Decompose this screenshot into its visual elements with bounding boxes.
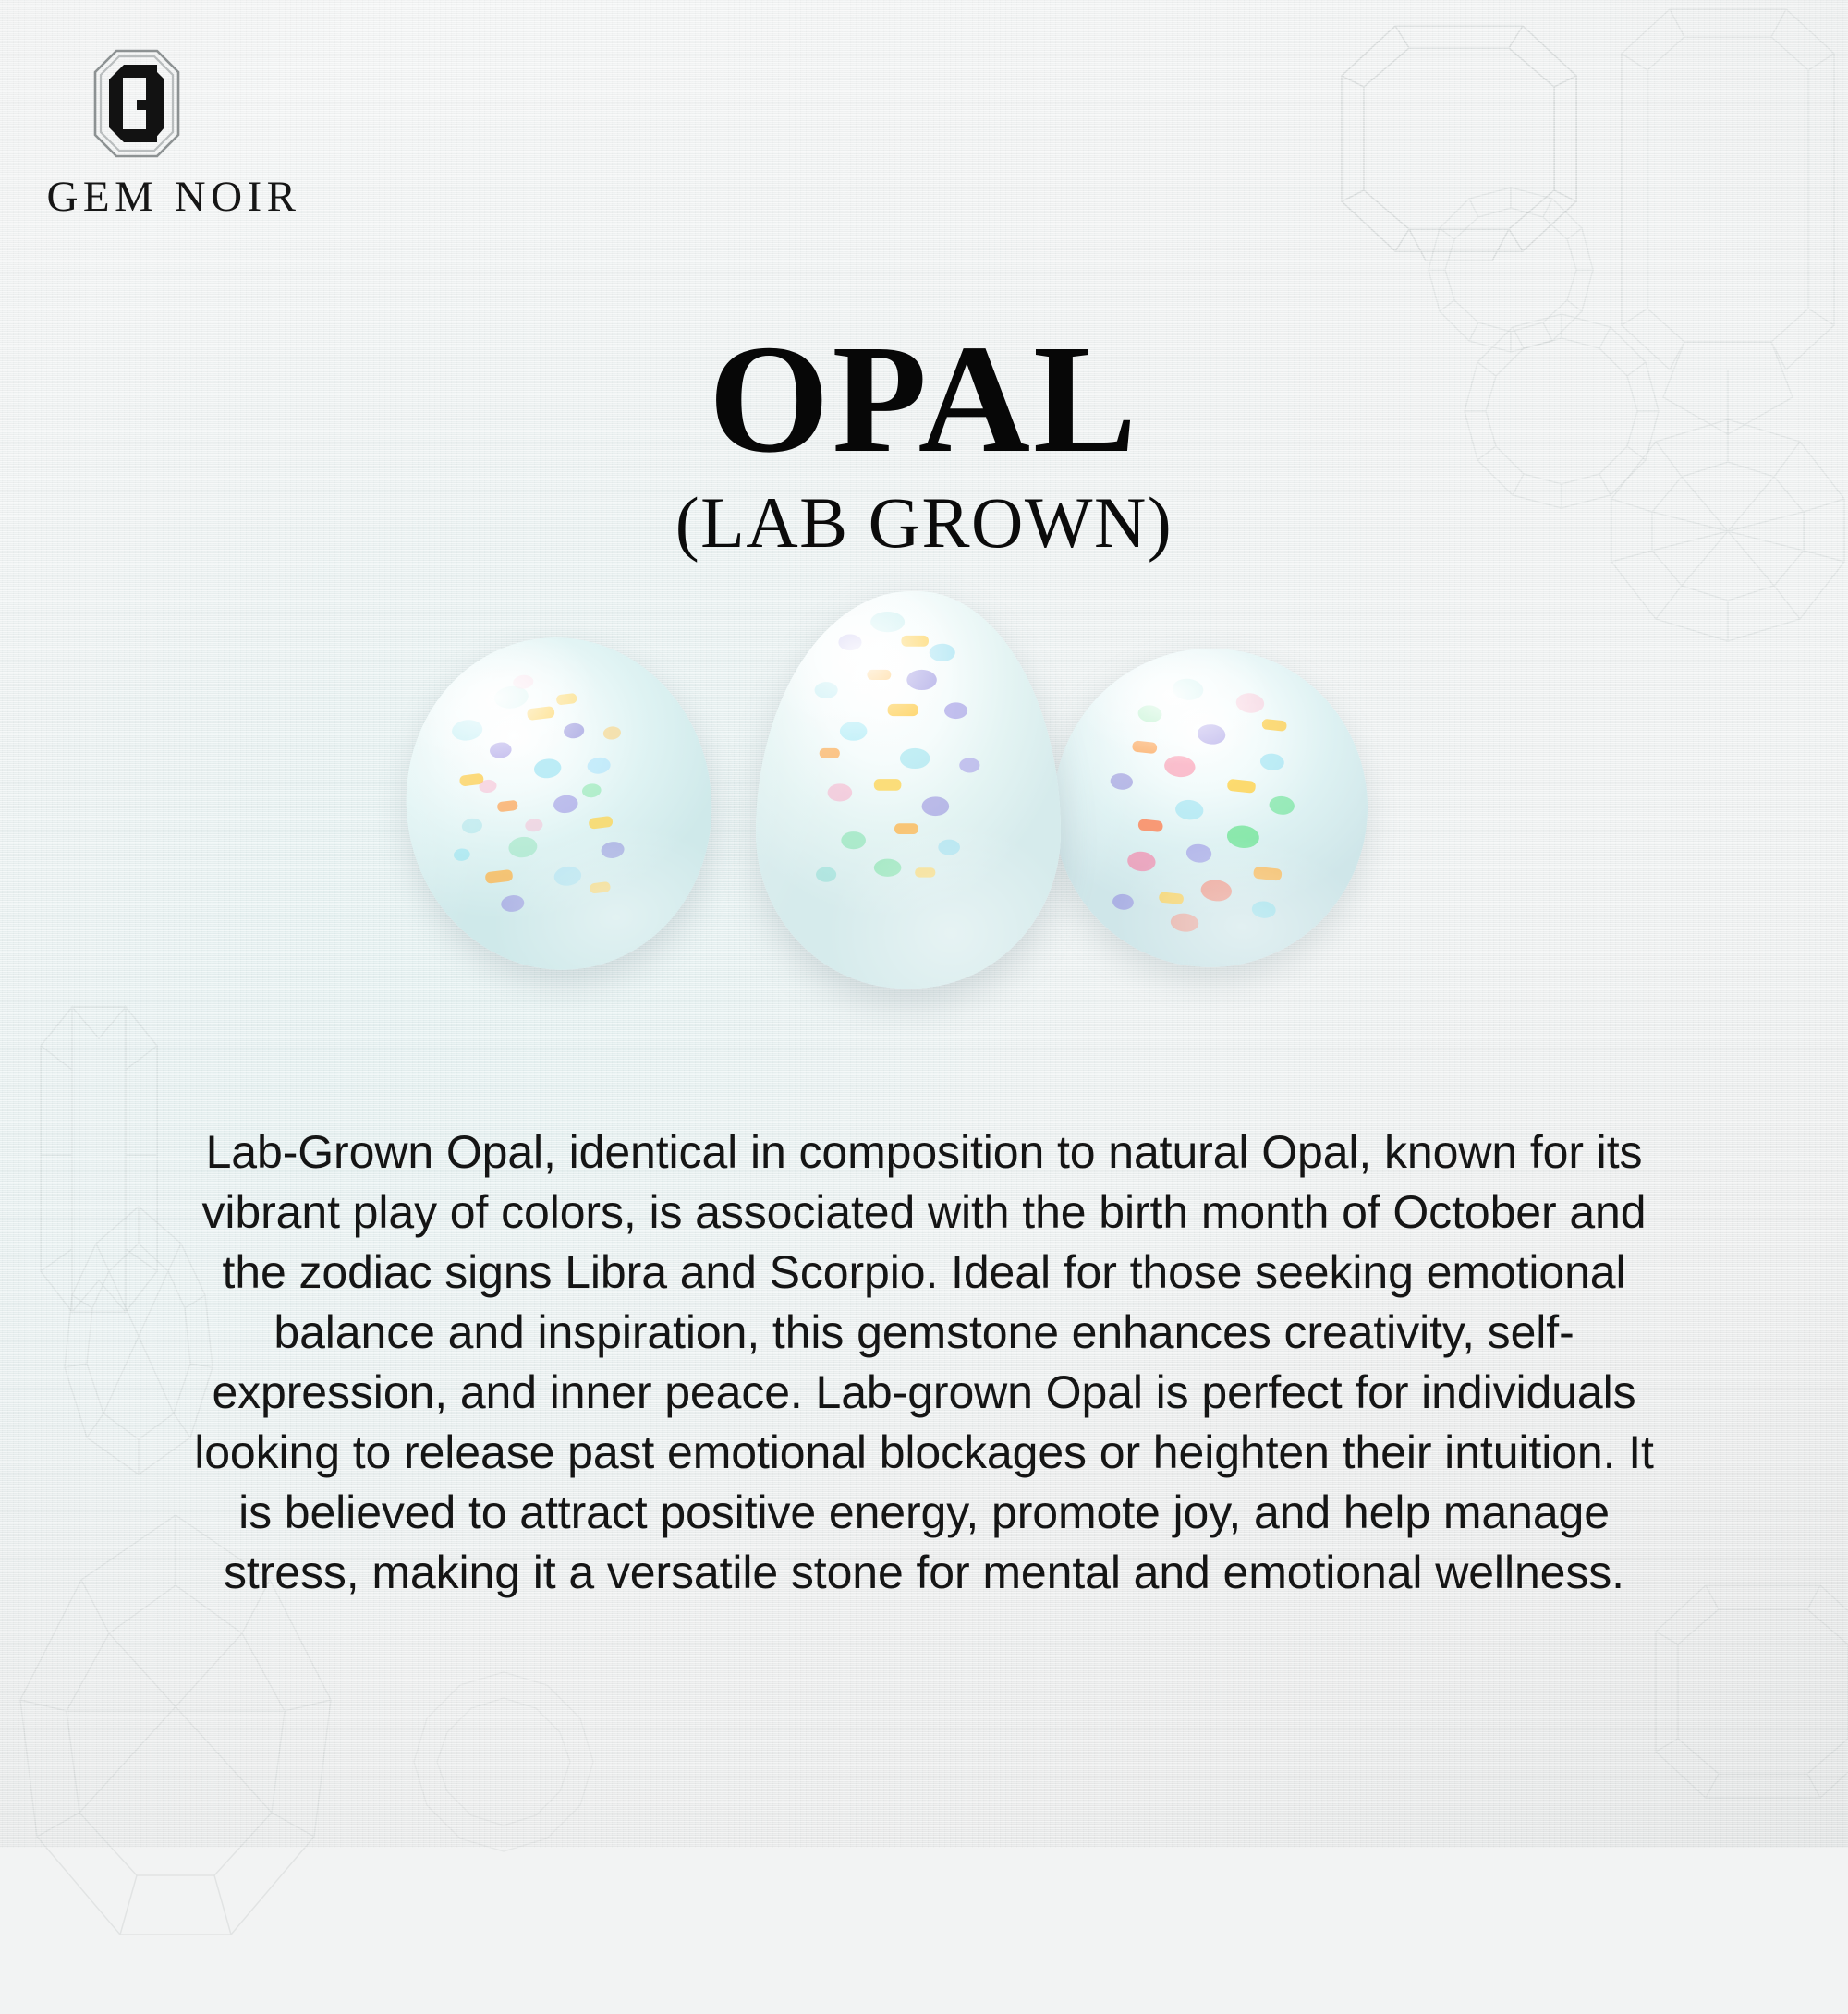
poster-canvas: GEM NOIR OPAL (LAB GROWN) — [0, 0, 1848, 1848]
page-title: OPAL — [0, 325, 1848, 474]
opal-pear-cabochon — [756, 591, 1061, 989]
description-paragraph: Lab-Grown Opal, identical in composition… — [176, 1122, 1672, 1603]
brand-logo[interactable]: GEM NOIR — [39, 48, 307, 219]
opal-oval-cabochon — [387, 620, 730, 988]
octagon-gem-outline-icon — [1321, 9, 1617, 286]
octagon-gem-outline-secondary-icon — [1626, 1571, 1848, 1838]
baguette-crystal-outline-icon — [9, 998, 194, 1395]
brand-wordmark: GEM NOIR — [41, 176, 307, 219]
octagon-gem-monogram-icon — [92, 48, 181, 159]
round-gem-outline-secondary-icon — [397, 1663, 610, 1875]
gemstone-cluster — [0, 591, 1848, 979]
page-subtitle: (LAB GROWN) — [0, 487, 1848, 559]
hero-title-block: OPAL (LAB GROWN) — [0, 325, 1848, 559]
opal-round-cabochon — [1038, 633, 1383, 983]
